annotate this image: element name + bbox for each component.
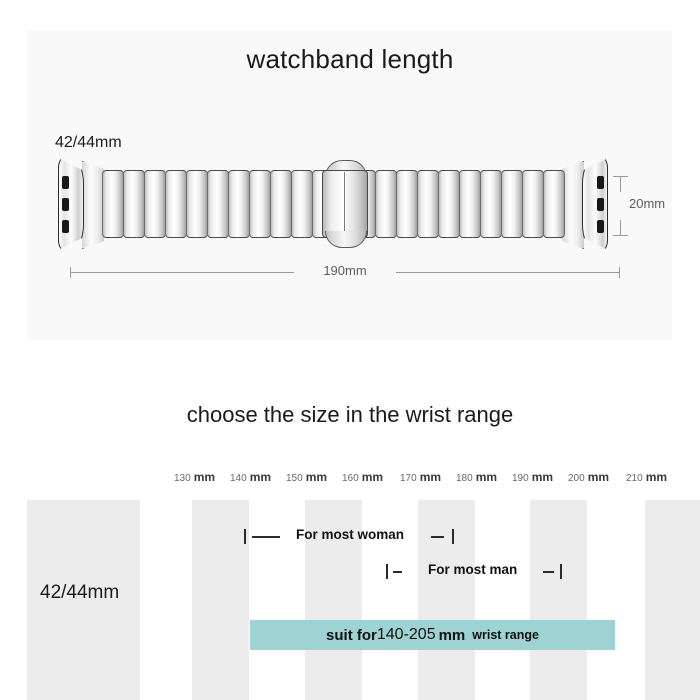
ruler-tick-value: 200 bbox=[568, 473, 585, 484]
width-dimension-label: 20mm bbox=[629, 196, 665, 211]
clasp-seam bbox=[344, 172, 345, 236]
ruler-tick-value: 160 bbox=[342, 473, 359, 484]
band-lug-left bbox=[58, 158, 84, 250]
lug-slot bbox=[62, 220, 69, 233]
range-dash-left bbox=[252, 536, 280, 538]
scale-stripe bbox=[530, 500, 587, 700]
band-link bbox=[270, 170, 292, 238]
watchband-illustration bbox=[58, 158, 608, 250]
ruler-tick-unit: mm bbox=[420, 470, 441, 484]
ruler-tick-unit: mm bbox=[476, 470, 497, 484]
suit-for-unit: mm bbox=[439, 627, 466, 644]
range-dash-right bbox=[431, 536, 444, 538]
length-dimension-line: 190mm bbox=[70, 267, 620, 279]
length-dimension-label: 190mm bbox=[70, 263, 620, 278]
suit-for-bar: suit for 140-205 mm wrist range bbox=[250, 620, 615, 650]
ruler-tick: 160 mm bbox=[342, 470, 383, 484]
band-link bbox=[228, 170, 250, 238]
ruler-tick-value: 150 bbox=[286, 473, 303, 484]
ruler-tick: 180 mm bbox=[456, 470, 497, 484]
ruler-tick-unit: mm bbox=[362, 470, 383, 484]
lug-slot bbox=[597, 198, 604, 211]
range-row-woman: For most woman bbox=[244, 527, 454, 547]
band-link bbox=[522, 170, 544, 238]
band-taper-left bbox=[82, 161, 104, 249]
ruler-tick-value: 180 bbox=[456, 473, 473, 484]
width-dimension-line: 20mm bbox=[613, 176, 673, 236]
ruler-tick-unit: mm bbox=[588, 470, 609, 484]
scale-stripe bbox=[645, 500, 700, 700]
ruler-tick: 150 mm bbox=[286, 470, 327, 484]
dimension-cap-bottom bbox=[613, 235, 628, 236]
band-link bbox=[396, 170, 418, 238]
range-dash-left bbox=[393, 571, 402, 573]
range-cap-right bbox=[560, 564, 562, 579]
band-link bbox=[459, 170, 481, 238]
lug-slot bbox=[62, 198, 69, 211]
lug-slot bbox=[597, 176, 604, 189]
range-cap-left bbox=[386, 564, 388, 579]
suit-for-prefix: suit for bbox=[326, 627, 377, 644]
band-link bbox=[501, 170, 523, 238]
lug-slot bbox=[62, 176, 69, 189]
band-lug-right bbox=[582, 158, 608, 250]
ruler-tick: 170 mm bbox=[400, 470, 441, 484]
range-cap-right bbox=[452, 529, 454, 544]
ruler-tick-value: 170 bbox=[400, 473, 417, 484]
band-link bbox=[291, 170, 313, 238]
dimension-segment bbox=[620, 220, 621, 236]
wrist-ruler: 130 mm 140 mm 150 mm 160 mm 170 mm 180 m… bbox=[0, 470, 700, 488]
band-link bbox=[438, 170, 460, 238]
band-link bbox=[186, 170, 208, 238]
lug-slot bbox=[597, 220, 604, 233]
ruler-tick: 140 mm bbox=[230, 470, 271, 484]
ruler-tick-unit: mm bbox=[646, 470, 667, 484]
band-taper-right bbox=[562, 161, 584, 249]
band-link bbox=[102, 170, 124, 238]
ruler-tick-unit: mm bbox=[250, 470, 271, 484]
ruler-tick-value: 130 bbox=[174, 473, 191, 484]
band-link bbox=[123, 170, 145, 238]
case-size-label-bottom: 42/44mm bbox=[40, 582, 119, 604]
ruler-tick-unit: mm bbox=[532, 470, 553, 484]
range-dash-right bbox=[543, 571, 554, 573]
suit-for-range: 140-205 bbox=[377, 626, 436, 644]
ruler-tick-value: 190 bbox=[512, 473, 529, 484]
scale-stripe bbox=[192, 500, 249, 700]
ruler-tick-unit: mm bbox=[306, 470, 327, 484]
ruler-tick: 130 mm bbox=[174, 470, 215, 484]
range-row-man: For most man bbox=[386, 562, 562, 582]
suit-for-suffix: wrist range bbox=[472, 628, 539, 642]
band-link bbox=[249, 170, 271, 238]
ruler-tick: 190 mm bbox=[512, 470, 553, 484]
clasp-knob-bottom bbox=[325, 231, 367, 248]
band-link bbox=[165, 170, 187, 238]
band-link bbox=[144, 170, 166, 238]
band-link bbox=[543, 170, 565, 238]
ruler-tick-value: 210 bbox=[626, 473, 643, 484]
band-link bbox=[480, 170, 502, 238]
ruler-tick: 200 mm bbox=[568, 470, 609, 484]
case-size-label-top: 42/44mm bbox=[55, 134, 122, 152]
clasp-body bbox=[322, 170, 368, 238]
ruler-tick: 210 mm bbox=[626, 470, 667, 484]
ruler-tick-value: 140 bbox=[230, 473, 247, 484]
band-link bbox=[417, 170, 439, 238]
range-label-man: For most man bbox=[428, 562, 517, 577]
range-label-woman: For most woman bbox=[296, 527, 404, 542]
dimension-segment bbox=[620, 176, 621, 192]
ruler-tick-unit: mm bbox=[194, 470, 215, 484]
band-link bbox=[375, 170, 397, 238]
wrist-range-title: choose the size in the wrist range bbox=[0, 402, 700, 428]
watchband-length-title: watchband length bbox=[0, 44, 700, 75]
band-link bbox=[207, 170, 229, 238]
band-clasp bbox=[322, 160, 368, 248]
range-cap-left bbox=[244, 529, 246, 544]
infographic-page: watchband length 42/44mm bbox=[0, 0, 700, 700]
